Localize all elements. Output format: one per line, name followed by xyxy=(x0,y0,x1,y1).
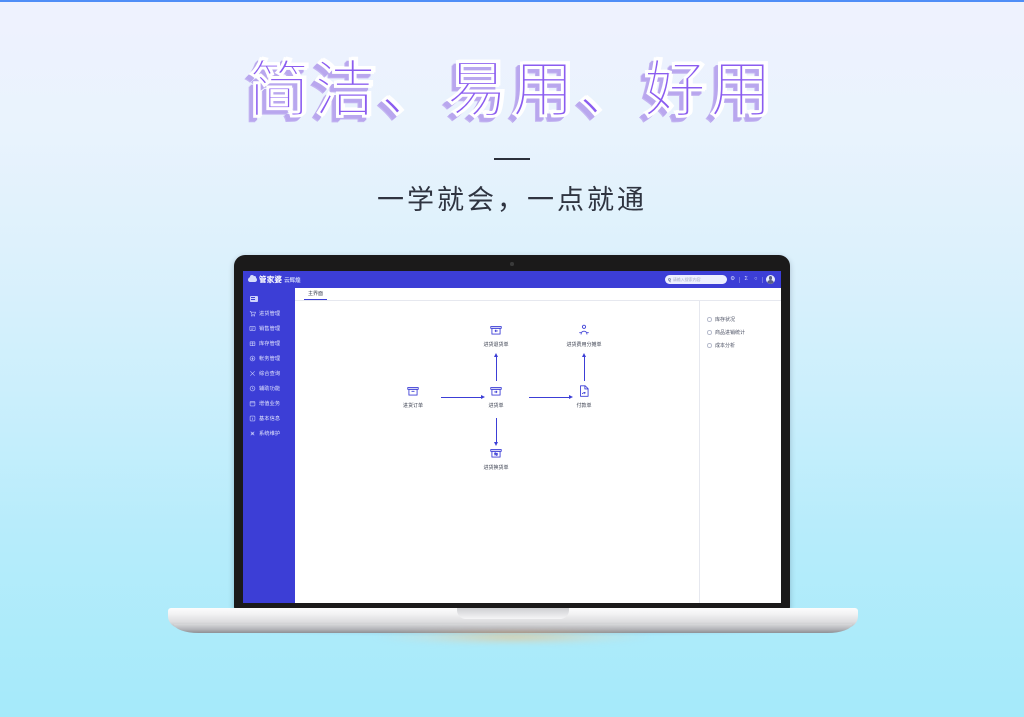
webcam-dot xyxy=(510,262,514,266)
sidebar-item-query[interactable]: 综合查询 xyxy=(243,366,295,381)
right-panel-item-label: 商品进销统计 xyxy=(715,329,745,336)
sidebar-item-value-added[interactable]: 增值业务 xyxy=(243,396,295,411)
search-icon xyxy=(668,278,671,281)
app-brand: 管家婆 云辉煌 xyxy=(248,274,301,285)
sidebar-item-basic-info[interactable]: 基本信息 xyxy=(243,411,295,426)
laptop-screen: 管家婆 云辉煌 请输入搜索内容 ⚙ Σ ○ xyxy=(243,271,781,603)
sidebar-item-label: 辅助功能 xyxy=(259,385,280,392)
payment-icon xyxy=(577,384,591,398)
laptop-lid: 管家婆 云辉煌 请输入搜索内容 ⚙ Σ ○ xyxy=(234,255,790,610)
sidebar-item-label: 销售管理 xyxy=(259,325,280,332)
refresh-icon[interactable]: ○ xyxy=(753,276,760,283)
search-placeholder: 请输入搜索内容 xyxy=(673,277,701,283)
laptop-base-notch xyxy=(457,608,569,619)
flow-node-label: 进货单 xyxy=(473,402,519,409)
flow-arrow-up-right xyxy=(584,357,585,381)
right-panel: 库存状况 商品进销统计 成本分析 xyxy=(699,301,781,603)
sidebar-menu: 进货管理 销售管理 xyxy=(243,306,295,441)
cart-icon xyxy=(249,310,256,317)
circle-icon xyxy=(707,343,712,348)
sales-icon xyxy=(249,325,256,332)
sidebar-item-label: 进货管理 xyxy=(259,310,280,317)
erp-application: 管家婆 云辉煌 请输入搜索内容 ⚙ Σ ○ xyxy=(243,271,781,603)
page-title: 简洁、易用、好用 xyxy=(248,60,776,122)
flow-arrow-up-left xyxy=(496,357,497,381)
sidebar: 进货管理 销售管理 xyxy=(243,288,295,603)
flow-arrow-right-2 xyxy=(529,397,569,398)
workspace-row: 进货退货单 进货费用分摊单 xyxy=(295,301,781,603)
box-exchange-icon xyxy=(489,446,503,460)
app-topbar: 管家婆 云辉煌 请输入搜索内容 ⚙ Σ ○ xyxy=(243,271,781,288)
topbar-divider xyxy=(762,277,763,283)
page-subtitle: 一学就会，一点就通 xyxy=(0,178,1024,217)
main-content: 主界面 xyxy=(295,288,781,603)
sigma-icon[interactable]: Σ xyxy=(743,276,750,283)
tab-main[interactable]: 主界面 xyxy=(304,290,327,300)
flow-node-label: 进货费用分摊单 xyxy=(561,341,607,348)
box-return-icon xyxy=(489,323,503,337)
user-avatar[interactable] xyxy=(766,275,775,284)
right-panel-item-label: 库存状况 xyxy=(715,316,735,323)
box-order-icon xyxy=(406,384,420,398)
right-panel-item-cost-analysis[interactable]: 成本分析 xyxy=(707,339,781,352)
right-panel-item-label: 成本分析 xyxy=(715,342,735,349)
circle-icon xyxy=(707,317,712,322)
sidebar-item-label: 基本信息 xyxy=(259,415,280,422)
sidebar-item-label: 增值业务 xyxy=(259,400,280,407)
flow-node-cost-allocation[interactable]: 进货费用分摊单 xyxy=(561,323,607,348)
topbar-divider xyxy=(739,277,740,283)
flow-node-label: 付款单 xyxy=(561,402,607,409)
tab-bar: 主界面 xyxy=(295,288,781,301)
person-share-icon xyxy=(577,323,591,337)
sidebar-item-label: 综合查询 xyxy=(259,370,280,377)
flow-arrow-right-1 xyxy=(441,397,481,398)
right-panel-item-sales-stats[interactable]: 商品进销统计 xyxy=(707,326,781,339)
brand-suffix: 云辉煌 xyxy=(284,276,301,284)
query-icon xyxy=(249,370,256,377)
right-panel-item-stock-status[interactable]: 库存状况 xyxy=(707,313,781,326)
search-input[interactable]: 请输入搜索内容 xyxy=(665,275,727,284)
sidebar-item-finance[interactable]: 帐务管理 xyxy=(243,351,295,366)
cloud-icon xyxy=(248,277,257,282)
title-divider xyxy=(494,158,530,160)
flow-canvas: 进货退货单 进货费用分摊单 xyxy=(295,301,699,603)
flow-node-purchase-exchange[interactable]: 进货换货单 xyxy=(473,446,519,471)
flow-node-purchase-order[interactable]: 进货订单 xyxy=(390,384,436,409)
finance-icon xyxy=(249,355,256,362)
brand-name: 管家婆 xyxy=(259,274,282,285)
flow-node-label: 进货订单 xyxy=(390,402,436,409)
flow-arrow-down xyxy=(496,418,497,442)
menu-collapse-icon xyxy=(250,296,258,302)
sidebar-item-inventory[interactable]: 库存管理 xyxy=(243,336,295,351)
sidebar-item-purchase[interactable]: 进货管理 xyxy=(243,306,295,321)
gear-icon[interactable]: ⚙ xyxy=(730,276,737,283)
sidebar-item-tools[interactable]: 辅助功能 xyxy=(243,381,295,396)
flow-node-purchase-return[interactable]: 进货退货单 xyxy=(473,323,519,348)
settings-icon xyxy=(249,430,256,437)
laptop-base xyxy=(168,608,858,634)
circle-icon xyxy=(707,330,712,335)
laptop-mockup: 管家婆 云辉煌 请输入搜索内容 ⚙ Σ ○ xyxy=(0,255,1024,655)
sidebar-item-label: 系统维护 xyxy=(259,430,280,437)
sidebar-collapse-button[interactable] xyxy=(243,292,295,306)
topbar-actions: 请输入搜索内容 ⚙ Σ ○ xyxy=(665,275,776,284)
top-accent-rule xyxy=(0,0,1024,2)
sidebar-item-system[interactable]: 系统维护 xyxy=(243,426,295,441)
app-body: 进货管理 销售管理 xyxy=(243,288,781,603)
sidebar-item-sales[interactable]: 销售管理 xyxy=(243,321,295,336)
tools-icon xyxy=(249,385,256,392)
info-icon xyxy=(249,415,256,422)
box-in-icon xyxy=(489,384,503,398)
box-icon xyxy=(249,340,256,347)
flow-node-label: 进货退货单 xyxy=(473,341,519,348)
hero-section: 简洁、易用、好用 一学就会，一点就通 xyxy=(0,60,1024,217)
flow-node-label: 进货换货单 xyxy=(473,464,519,471)
sidebar-item-label: 帐务管理 xyxy=(259,355,280,362)
sidebar-item-label: 库存管理 xyxy=(259,340,280,347)
laptop-base-glow xyxy=(373,629,653,645)
value-icon xyxy=(249,400,256,407)
